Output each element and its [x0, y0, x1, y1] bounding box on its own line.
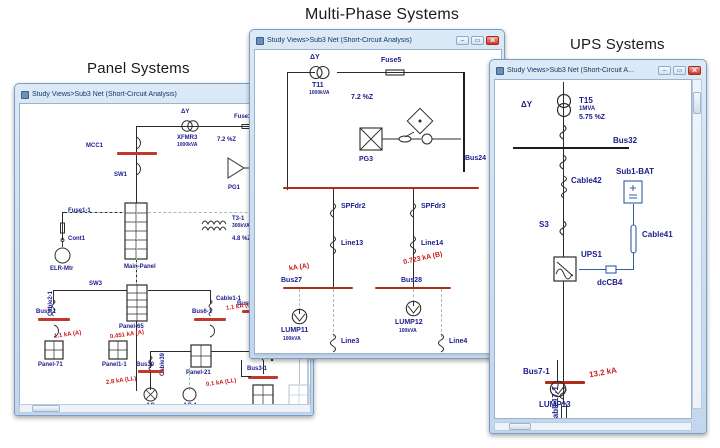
pg1-label: PG1	[228, 185, 240, 191]
bus28-label: Bus28	[401, 277, 422, 284]
wire	[148, 290, 210, 291]
scrollbar-thumb[interactable]	[32, 405, 60, 412]
panel-block-71[interactable]	[44, 340, 64, 360]
elr-mtr-label: ELR-Mtr	[50, 266, 73, 272]
close-button[interactable]: ✕	[486, 36, 499, 45]
wire	[287, 72, 288, 190]
dc-wire	[633, 252, 634, 270]
app-icon	[21, 91, 29, 99]
minimize-button[interactable]: –	[658, 66, 671, 75]
lump11-rating-label: 100kVA	[283, 336, 301, 342]
window-title-multiphase: Study Views>Sub3 Net (Short-Circuit Anal…	[267, 37, 453, 44]
cable42-label: Cable42	[571, 176, 602, 185]
wire	[299, 358, 300, 384]
breaker-symbol	[409, 202, 418, 218]
bus-bus27[interactable]	[283, 287, 353, 289]
bus-bus9-1[interactable]	[38, 318, 70, 321]
window-multiphase-systems[interactable]: Study Views>Sub3 Net (Short-Circuit Anal…	[249, 29, 505, 359]
breaker-symbol	[559, 154, 569, 170]
panel11-label: Panel1-1	[102, 362, 127, 368]
ac-motor-symbol	[143, 387, 158, 402]
app-icon	[496, 67, 504, 75]
wire	[241, 360, 242, 376]
current-annotation: 0.1 kA (LL)	[206, 378, 237, 388]
transformer-symbol	[179, 119, 201, 133]
panel-block-21[interactable]	[190, 344, 212, 368]
wire	[557, 360, 558, 382]
xfmr-name-label: XFMR3	[177, 135, 197, 141]
ups1-label: UPS1	[581, 250, 602, 259]
xfmr-connection-label: ΔY	[310, 54, 320, 61]
minimize-button[interactable]: –	[456, 36, 469, 45]
xfmr-name-label: T11	[312, 82, 324, 89]
cable-symbol	[559, 176, 569, 198]
caption-multiphase-systems: Multi-Phase Systems	[305, 6, 459, 24]
t3-name-label: T3-1	[232, 216, 244, 222]
main-panel-label: Main-Panel	[124, 264, 156, 270]
fuse-label: Fuse5	[381, 57, 401, 64]
lump13-symbol	[549, 380, 567, 398]
window-controls-multiphase[interactable]: – ▭ ✕	[456, 36, 499, 45]
dc-wire	[633, 204, 634, 226]
t3-rating-label: 300kVA	[232, 223, 250, 229]
bus-mcc1[interactable]	[117, 152, 157, 155]
scrollbar-thumb[interactable]	[509, 423, 531, 430]
bus-bus32[interactable]	[513, 147, 629, 149]
line-symbol	[437, 334, 446, 354]
app-icon	[256, 37, 264, 45]
canvas-multiphase-diagram[interactable]: ΔY T11 1000kVA 7.2 %Z Fuse5 PG3 Bus24	[254, 49, 502, 354]
breaker-symbol	[559, 124, 569, 140]
xfmr-impedance-label: 7.2 %Z	[217, 137, 236, 143]
dccb4-symbol	[605, 264, 617, 275]
window-title-panel: Study Views>Sub3 Net (Short-Circuit Anal…	[32, 91, 262, 98]
control-line	[441, 289, 442, 337]
titlebar-ups[interactable]: Study Views>Sub3 Net (Short-Circuit A...…	[493, 63, 703, 78]
scrollbar-thumb[interactable]	[693, 92, 701, 114]
panel71-label: Panel-71	[38, 362, 63, 368]
xfmr-impedance-label: 5.75 %Z	[579, 114, 605, 121]
motor-symbol	[54, 247, 71, 264]
close-button[interactable]: ✕	[688, 66, 701, 75]
lump-load-symbol	[291, 308, 308, 325]
wire	[241, 376, 251, 377]
panel-block-15a[interactable]	[252, 384, 274, 406]
xfmr-connection-label: ΔY	[521, 100, 532, 109]
spfdr3-label: SPFdr3	[421, 203, 446, 210]
horizontal-scrollbar-panel[interactable]	[19, 404, 311, 413]
bus6-label: Bus6-1	[192, 309, 212, 315]
breaker-symbol	[559, 220, 569, 236]
line3-label: Line3	[341, 338, 359, 345]
breaker-symbol	[206, 324, 216, 338]
sw1-label: SW1	[114, 172, 127, 178]
line-symbol	[329, 236, 338, 256]
xfmr-connection-label: ΔY	[181, 109, 189, 115]
panel-block-1-1[interactable]	[108, 340, 128, 360]
wire	[53, 290, 136, 291]
fuse-symbol	[385, 68, 405, 77]
lump12-label: LUMP12	[395, 319, 423, 326]
maximize-button[interactable]: ▭	[471, 36, 484, 45]
lump11-label: LUMP11	[281, 327, 308, 334]
current-annotation: kA (A)	[289, 263, 310, 273]
cont1-label: Cont1	[68, 236, 85, 242]
fuse1-label: Fuse1-1	[68, 208, 91, 214]
horizontal-scrollbar-multiphase[interactable]	[254, 354, 502, 356]
current-annotation: 2.8 kA (LL)	[106, 376, 137, 386]
bus27-label: Bus27	[281, 277, 302, 284]
line14-label: Line14	[421, 240, 443, 247]
bus-bus6-1[interactable]	[194, 318, 226, 321]
caption-ups-systems: UPS Systems	[570, 36, 665, 53]
vertical-scrollbar-ups[interactable]	[692, 79, 702, 409]
bus-main[interactable]	[283, 187, 479, 189]
battery-symbol	[623, 180, 643, 204]
transformer-symbol	[200, 216, 228, 236]
line-symbol	[329, 334, 338, 354]
xfmr-rating-label: 1000kVA	[177, 142, 197, 148]
dccb4-label: dcCB4	[597, 278, 622, 287]
fuse-symbol	[59, 222, 66, 234]
caption-panel-systems: Panel Systems	[87, 60, 190, 77]
line-symbol	[409, 236, 418, 256]
xfmr-impedance-label: 7.2 %Z	[351, 94, 373, 101]
pg3-label: PG3	[359, 156, 373, 163]
sw3-label: SW3	[89, 281, 102, 287]
maximize-button[interactable]: ▭	[673, 66, 686, 75]
transformer-symbol	[554, 92, 574, 120]
ac1-motor-symbol	[182, 387, 197, 402]
sub1-bat-label: Sub1-BAT	[616, 167, 654, 176]
breaker-symbol	[132, 162, 142, 176]
control-line	[67, 212, 125, 213]
ups1-symbol[interactable]	[553, 256, 577, 282]
mcc1-label: MCC1	[86, 143, 103, 149]
xfmr-rating-label: 1000kVA	[309, 90, 329, 96]
bus30-label: Bus30	[136, 362, 154, 368]
breaker-symbol	[132, 136, 142, 150]
current-annotation: 0.451 kA (A)	[110, 330, 145, 341]
lump13-label: LUMP13	[539, 400, 571, 409]
bus-bus3-1[interactable]	[248, 376, 278, 379]
cable41-symbol	[628, 224, 639, 254]
bus3-label: Bus3-1	[247, 366, 267, 372]
window-title-ups: Study Views>Sub3 Net (Short-Circuit A...	[507, 67, 655, 74]
s3-label: S3	[539, 220, 549, 229]
line13-label: Line13	[341, 240, 363, 247]
spfdr2-label: SPFdr2	[341, 203, 366, 210]
bus32-label: Bus32	[613, 136, 637, 145]
xfmr-name-label: T15	[579, 96, 593, 105]
bus-bus30[interactable]	[138, 370, 164, 373]
control-line	[136, 212, 137, 290]
control-line	[333, 289, 334, 337]
cable41-label: Cable41	[642, 230, 673, 239]
transformer-symbol	[307, 65, 333, 80]
breaker-symbol	[329, 202, 338, 218]
window-controls-ups[interactable]: – ▭ ✕	[658, 66, 701, 75]
bus9-label: Bus9-1	[36, 309, 56, 315]
bus24-label: Bus24	[465, 155, 486, 162]
titlebar-multiphase[interactable]: Study Views>Sub3 Net (Short-Circuit Anal…	[253, 33, 501, 48]
lump-load-symbol	[405, 300, 422, 317]
pg3-symbol	[359, 110, 463, 154]
horizontal-scrollbar-ups[interactable]	[494, 422, 692, 431]
line4-label: Line4	[449, 338, 467, 345]
ups-lump13-region: LUMP13	[493, 360, 683, 418]
panel-block-65[interactable]	[126, 284, 148, 322]
xfmr-rating-label: 1MVA	[579, 106, 595, 112]
lump12-rating-label: 100kVA	[399, 328, 417, 334]
